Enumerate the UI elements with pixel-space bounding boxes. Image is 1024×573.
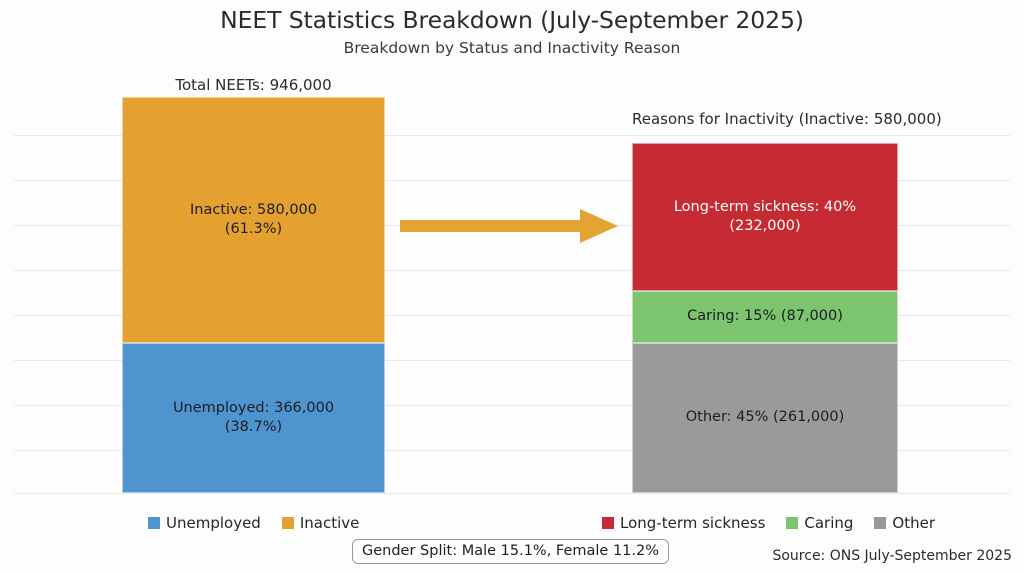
legend-swatch-icon [874, 517, 886, 529]
legend-swatch-icon [282, 517, 294, 529]
legend-item-unemployed[interactable]: Unemployed [148, 514, 261, 532]
chart-canvas: NEET Statistics Breakdown (July-Septembe… [0, 0, 1024, 573]
legend-label: Unemployed [166, 514, 261, 532]
legend-right: Long-term sickness Caring Other [602, 513, 949, 533]
legend-item-caring[interactable]: Caring [786, 514, 853, 532]
source-note: Source: ONS July-September 2025 [772, 548, 1012, 564]
right-panel-title: Reasons for Inactivity (Inactive: 580,00… [632, 110, 898, 128]
legend-item-inactive[interactable]: Inactive [282, 514, 360, 532]
gridline [14, 493, 1010, 494]
legend-left: Unemployed Inactive [148, 513, 373, 533]
legend-label: Long-term sickness [620, 514, 765, 532]
chart-title: NEET Statistics Breakdown (July-Septembe… [0, 6, 1024, 34]
legend-item-long-term-sickness[interactable]: Long-term sickness [602, 514, 765, 532]
legend-swatch-icon [786, 517, 798, 529]
chart-subtitle: Breakdown by Status and Inactivity Reaso… [0, 39, 1024, 57]
bar-segment-other[interactable]: Other: 45% (261,000) [632, 343, 898, 493]
flow-arrow-icon [398, 205, 620, 247]
bar-segment-long-term-sickness[interactable]: Long-term sickness: 40% (232,000) [632, 143, 898, 291]
bar-segment-unemployed[interactable]: Unemployed: 366,000 (38.7%) [122, 343, 385, 493]
legend-label: Caring [804, 514, 853, 532]
legend-swatch-icon [602, 517, 614, 529]
gender-split-annotation: Gender Split: Male 15.1%, Female 11.2% [352, 539, 669, 564]
legend-swatch-icon [148, 517, 160, 529]
bar-segment-inactive[interactable]: Inactive: 580,000 (61.3%) [122, 97, 385, 343]
left-panel-title: Total NEETs: 946,000 [122, 76, 385, 94]
legend-label: Other [892, 514, 935, 532]
bar-segment-caring[interactable]: Caring: 15% (87,000) [632, 291, 898, 343]
legend-label: Inactive [300, 514, 360, 532]
legend-item-other[interactable]: Other [874, 514, 935, 532]
